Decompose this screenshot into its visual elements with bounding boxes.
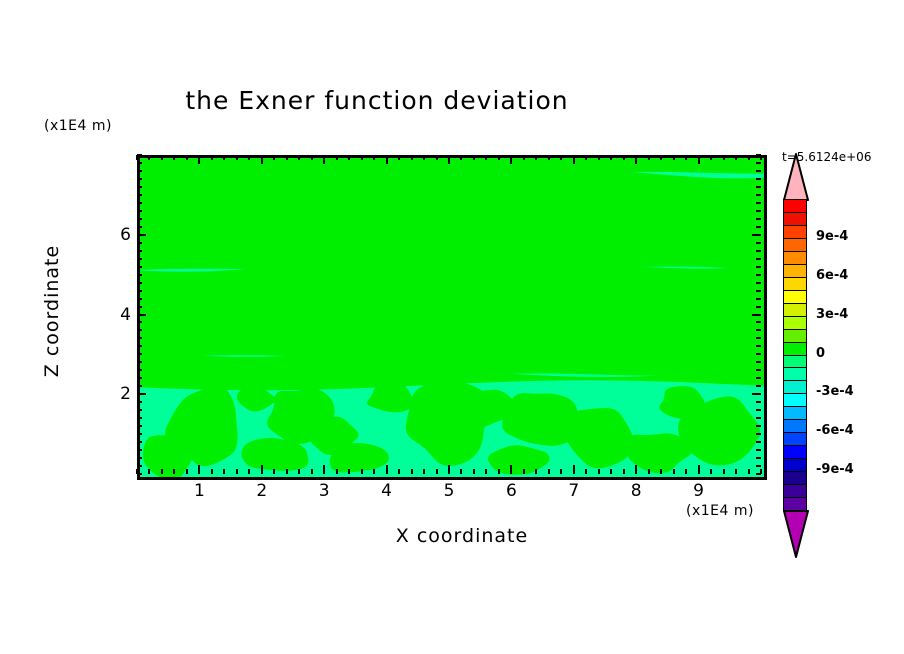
y-minor-tick-right: [756, 162, 761, 164]
y-tick-label: 6: [101, 225, 131, 245]
y-minor-tick-right: [756, 329, 761, 331]
x-minor-tick-top: [186, 155, 188, 160]
x-minor-tick-top: [548, 155, 550, 160]
y-minor-tick-right: [756, 210, 761, 212]
x-minor-tick: [473, 469, 475, 474]
y-minor-tick: [137, 154, 142, 156]
x-minor-tick: [273, 469, 275, 474]
x-minor-tick: [648, 469, 650, 474]
y-minor-tick: [137, 250, 142, 252]
x-minor-tick-top: [373, 155, 375, 160]
x-minor-tick: [436, 469, 438, 474]
x-minor-tick: [560, 469, 562, 474]
y-tick-label: 4: [101, 305, 131, 325]
x-minor-tick: [523, 469, 525, 474]
y-minor-tick: [137, 298, 142, 300]
x-minor-tick: [248, 469, 250, 474]
x-minor-tick-top: [660, 155, 662, 160]
y-minor-tick: [137, 441, 142, 443]
x-minor-tick-top: [286, 155, 288, 160]
y-minor-tick: [137, 306, 142, 308]
x-minor-tick-top: [211, 155, 213, 160]
x-major-tick-top: [448, 155, 450, 164]
y-minor-tick: [137, 385, 142, 387]
x-major-tick: [510, 465, 512, 474]
x-minor-tick-top: [311, 155, 313, 160]
x-minor-tick: [186, 469, 188, 474]
x-axis-unit-note: (x1E4 m): [686, 503, 754, 519]
x-minor-tick-top: [535, 155, 537, 160]
y-minor-tick-right: [756, 353, 761, 355]
y-minor-tick-right: [756, 258, 761, 260]
x-minor-tick: [460, 469, 462, 474]
x-minor-tick: [673, 469, 675, 474]
y-minor-tick: [137, 202, 142, 204]
x-tick-label: 4: [372, 481, 402, 501]
x-minor-tick: [211, 469, 213, 474]
x-minor-tick-top: [173, 155, 175, 160]
x-major-tick-top: [510, 155, 512, 164]
x-minor-tick-top: [648, 155, 650, 160]
x-major-tick: [698, 465, 700, 474]
y-minor-tick-right: [756, 298, 761, 300]
contour-field: [140, 158, 764, 477]
y-minor-tick-right: [756, 401, 761, 403]
x-minor-tick-top: [498, 155, 500, 160]
x-axis-label: X coordinate: [337, 525, 587, 547]
x-minor-tick-top: [348, 155, 350, 160]
x-minor-tick: [610, 469, 612, 474]
contour-plot-area: [137, 155, 767, 480]
y-minor-tick: [137, 473, 142, 475]
y-minor-tick: [137, 401, 142, 403]
y-minor-tick: [137, 170, 142, 172]
x-major-tick-top: [261, 155, 263, 164]
x-minor-tick-top: [236, 155, 238, 160]
x-major-tick-top: [573, 155, 575, 164]
x-tick-label: 5: [434, 481, 464, 501]
x-major-tick-top: [323, 155, 325, 164]
colorbar-tick-label: 6e-4: [816, 268, 848, 283]
x-tick-label: 6: [496, 481, 526, 501]
y-minor-tick: [137, 425, 142, 427]
y-minor-tick: [137, 321, 142, 323]
x-minor-tick-top: [673, 155, 675, 160]
y-minor-tick-right: [756, 250, 761, 252]
x-major-tick: [635, 465, 637, 474]
x-minor-tick-top: [523, 155, 525, 160]
x-major-tick: [573, 465, 575, 474]
x-minor-tick: [723, 469, 725, 474]
y-major-tick-right: [752, 393, 761, 395]
y-major-tick: [137, 393, 146, 395]
x-minor-tick-top: [723, 155, 725, 160]
y-minor-tick-right: [756, 282, 761, 284]
x-minor-tick: [348, 469, 350, 474]
chart-title: the Exner function deviation: [0, 86, 904, 115]
x-minor-tick: [161, 469, 163, 474]
x-major-tick: [198, 465, 200, 474]
y-minor-tick: [137, 242, 142, 244]
x-major-tick: [386, 465, 388, 474]
y-minor-tick: [137, 162, 142, 164]
x-minor-tick: [236, 469, 238, 474]
x-major-tick-top: [635, 155, 637, 164]
y-minor-tick-right: [756, 218, 761, 220]
y-minor-tick-right: [756, 473, 761, 475]
x-tick-label: 3: [309, 481, 339, 501]
x-minor-tick-top: [735, 155, 737, 160]
x-minor-tick: [598, 469, 600, 474]
colorbar: [783, 199, 809, 510]
x-minor-tick: [660, 469, 662, 474]
y-minor-tick-right: [756, 321, 761, 323]
x-minor-tick: [286, 469, 288, 474]
y-minor-tick-right: [756, 226, 761, 228]
x-minor-tick-top: [361, 155, 363, 160]
y-minor-tick: [137, 226, 142, 228]
y-minor-tick-right: [756, 345, 761, 347]
y-minor-tick-right: [756, 178, 761, 180]
y-minor-tick: [137, 377, 142, 379]
y-minor-tick-right: [756, 202, 761, 204]
y-minor-tick-right: [756, 417, 761, 419]
y-minor-tick-right: [756, 465, 761, 467]
x-tick-label: 2: [247, 481, 277, 501]
x-major-tick-top: [698, 155, 700, 164]
x-minor-tick: [398, 469, 400, 474]
x-minor-tick-top: [710, 155, 712, 160]
x-minor-tick: [373, 469, 375, 474]
y-major-tick-right: [752, 234, 761, 236]
y-major-tick: [137, 314, 146, 316]
figure-canvas: the Exner function deviation (x1E4 m) (x…: [0, 0, 904, 654]
x-minor-tick-top: [398, 155, 400, 160]
x-minor-tick-top: [473, 155, 475, 160]
x-minor-tick: [585, 469, 587, 474]
y-minor-tick: [137, 194, 142, 196]
y-minor-tick-right: [756, 457, 761, 459]
x-minor-tick: [498, 469, 500, 474]
x-minor-tick-top: [148, 155, 150, 160]
y-minor-tick: [137, 329, 142, 331]
x-minor-tick: [411, 469, 413, 474]
x-minor-tick: [685, 469, 687, 474]
x-minor-tick-top: [223, 155, 225, 160]
colorbar-tick-label: 3e-4: [816, 307, 848, 322]
x-minor-tick-top: [248, 155, 250, 160]
x-major-tick: [261, 465, 263, 474]
colorbar-tick-label: 9e-4: [816, 229, 848, 244]
x-tick-label: 1: [184, 481, 214, 501]
y-minor-tick-right: [756, 337, 761, 339]
y-axis-unit-note: (x1E4 m): [44, 118, 112, 134]
y-tick-label: 2: [101, 384, 131, 404]
x-major-tick-top: [386, 155, 388, 164]
y-minor-tick: [137, 266, 142, 268]
x-minor-tick-top: [485, 155, 487, 160]
y-minor-tick: [137, 345, 142, 347]
y-minor-tick-right: [756, 361, 761, 363]
y-minor-tick: [137, 210, 142, 212]
colorbar-tick-label: -3e-4: [816, 384, 854, 399]
y-minor-tick-right: [756, 194, 761, 196]
y-axis-label: Z coordinate: [41, 226, 63, 396]
y-minor-tick: [137, 369, 142, 371]
y-minor-tick: [137, 282, 142, 284]
y-minor-tick: [137, 361, 142, 363]
y-major-tick: [137, 234, 146, 236]
y-minor-tick-right: [756, 425, 761, 427]
x-minor-tick-top: [298, 155, 300, 160]
x-minor-tick: [173, 469, 175, 474]
x-minor-tick: [623, 469, 625, 474]
y-minor-tick-right: [756, 290, 761, 292]
y-minor-tick-right: [756, 306, 761, 308]
colorbar-tick-label: 0: [816, 346, 825, 361]
y-minor-tick: [137, 409, 142, 411]
x-minor-tick-top: [598, 155, 600, 160]
y-minor-tick: [137, 218, 142, 220]
y-minor-tick-right: [756, 385, 761, 387]
y-minor-tick-right: [756, 433, 761, 435]
x-minor-tick-top: [336, 155, 338, 160]
y-major-tick-right: [752, 314, 761, 316]
x-minor-tick-top: [685, 155, 687, 160]
y-minor-tick-right: [756, 154, 761, 156]
x-minor-tick: [485, 469, 487, 474]
y-minor-tick: [137, 290, 142, 292]
y-minor-tick-right: [756, 409, 761, 411]
x-minor-tick-top: [411, 155, 413, 160]
y-minor-tick-right: [756, 449, 761, 451]
x-tick-label: 9: [684, 481, 714, 501]
colorbar-tick-label: -9e-4: [816, 462, 854, 477]
x-minor-tick: [423, 469, 425, 474]
x-minor-tick-top: [273, 155, 275, 160]
y-minor-tick-right: [756, 274, 761, 276]
x-minor-tick-top: [423, 155, 425, 160]
x-minor-tick: [710, 469, 712, 474]
x-minor-tick-top: [460, 155, 462, 160]
colorbar-under-cap: [783, 510, 809, 558]
x-major-tick-top: [198, 155, 200, 164]
x-tick-label: 8: [621, 481, 651, 501]
y-minor-tick: [137, 274, 142, 276]
x-tick-label: 7: [559, 481, 589, 501]
x-minor-tick-top: [436, 155, 438, 160]
chart-title-text: the Exner function deviation: [185, 86, 568, 115]
y-minor-tick-right: [756, 369, 761, 371]
y-minor-tick: [137, 457, 142, 459]
colorbar-tick-label: -6e-4: [816, 423, 854, 438]
y-minor-tick: [137, 433, 142, 435]
x-minor-tick-top: [623, 155, 625, 160]
x-major-tick: [323, 465, 325, 474]
y-minor-tick-right: [756, 170, 761, 172]
y-minor-tick: [137, 465, 142, 467]
y-minor-tick-right: [756, 441, 761, 443]
y-minor-tick: [137, 337, 142, 339]
y-minor-tick: [137, 186, 142, 188]
x-minor-tick-top: [560, 155, 562, 160]
x-minor-tick-top: [585, 155, 587, 160]
x-minor-tick-top: [161, 155, 163, 160]
y-minor-tick: [137, 258, 142, 260]
x-minor-tick: [735, 469, 737, 474]
x-minor-tick-top: [748, 155, 750, 160]
x-minor-tick: [336, 469, 338, 474]
x-minor-tick: [548, 469, 550, 474]
y-minor-tick: [137, 353, 142, 355]
y-minor-tick-right: [756, 377, 761, 379]
colorbar-over-cap: [783, 153, 809, 201]
y-minor-tick-right: [756, 186, 761, 188]
y-minor-tick: [137, 178, 142, 180]
y-minor-tick: [137, 449, 142, 451]
y-minor-tick-right: [756, 242, 761, 244]
x-minor-tick-top: [610, 155, 612, 160]
y-minor-tick: [137, 417, 142, 419]
x-minor-tick: [148, 469, 150, 474]
x-minor-tick: [311, 469, 313, 474]
x-major-tick: [448, 465, 450, 474]
x-minor-tick: [223, 469, 225, 474]
x-minor-tick: [535, 469, 537, 474]
x-minor-tick: [361, 469, 363, 474]
x-minor-tick: [748, 469, 750, 474]
y-minor-tick-right: [756, 266, 761, 268]
x-minor-tick: [298, 469, 300, 474]
